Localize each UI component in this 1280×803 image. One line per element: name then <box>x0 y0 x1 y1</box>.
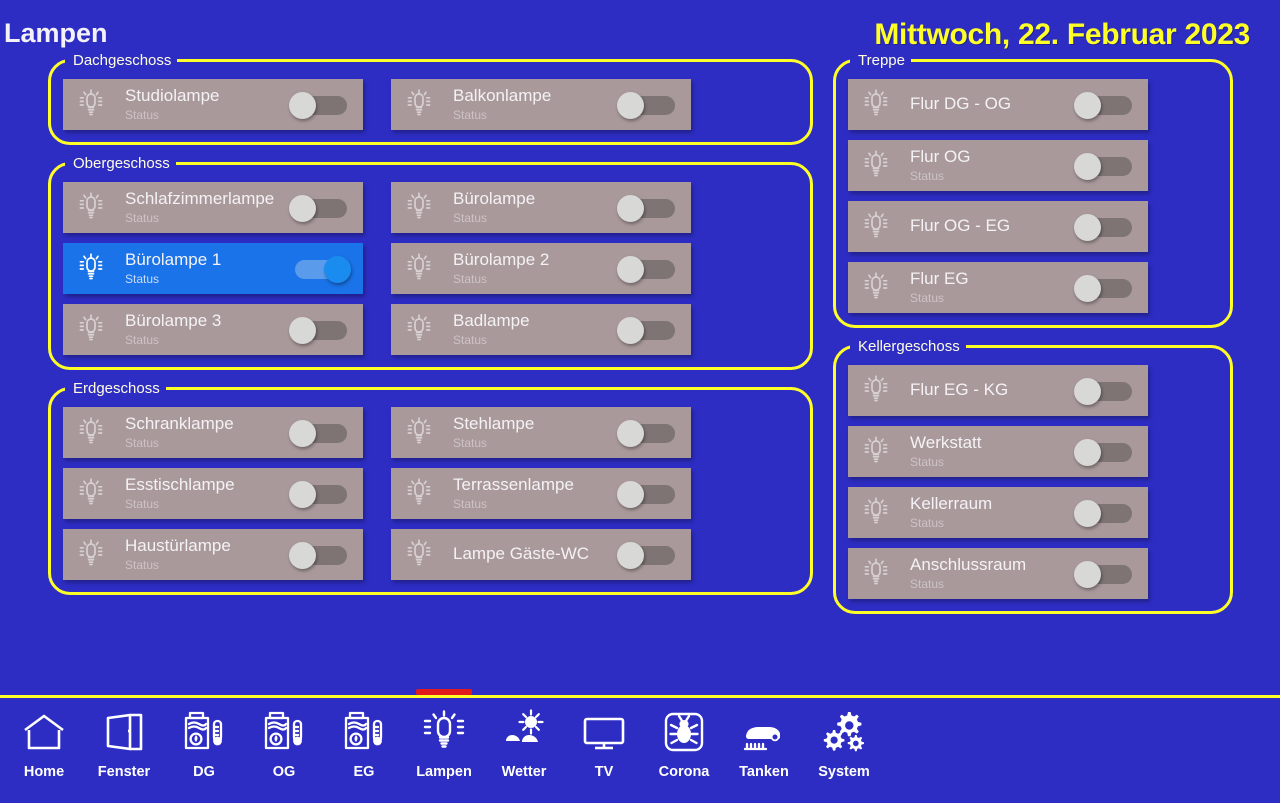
lightbulb-icon <box>405 313 433 347</box>
virus-bug-icon <box>660 708 708 756</box>
toggle-knob <box>617 317 644 344</box>
lamp-card[interactable]: Lampe Gäste-WC <box>391 529 691 580</box>
lightbulb-icon <box>862 435 890 469</box>
lamp-text: EsstischlampeStatus <box>125 475 283 511</box>
lamp-status-label: Status <box>453 436 611 451</box>
lightbulb-icon <box>405 477 433 511</box>
lightbulb-icon <box>862 557 890 591</box>
lamp-toggle-switch[interactable] <box>1074 561 1136 587</box>
lamp-status-label: Status <box>910 516 1068 531</box>
nav-item-system[interactable]: System <box>804 698 884 798</box>
lamp-toggle-switch[interactable] <box>289 92 351 118</box>
lamp-text: Bürolampe 3Status <box>125 311 283 347</box>
nav-item-label: EG <box>354 764 375 780</box>
toggle-knob <box>1074 214 1101 241</box>
toggle-knob <box>289 195 316 222</box>
nav-item-lampen[interactable]: Lampen <box>404 698 484 798</box>
nav-item-tv[interactable]: TV <box>564 698 644 798</box>
lamp-toggle-switch[interactable] <box>1074 500 1136 526</box>
toggle-knob <box>324 256 351 283</box>
lightbulb-icon <box>405 416 433 450</box>
lamp-toggle-switch[interactable] <box>617 92 679 118</box>
lamp-status-label: Status <box>125 272 283 287</box>
lamp-toggle-switch[interactable] <box>617 481 679 507</box>
lightbulb-icon <box>77 477 105 511</box>
lamp-name: Bürolampe <box>453 189 611 209</box>
lightbulb-icon <box>77 191 105 225</box>
toggle-knob <box>1074 439 1101 466</box>
lamp-card[interactable]: Flur EG - KG <box>848 365 1148 416</box>
lamp-status-label: Status <box>125 436 283 451</box>
lamp-status-label: Status <box>125 497 283 512</box>
toggle-knob <box>1074 92 1101 119</box>
lamp-text: StehlampeStatus <box>453 414 611 450</box>
lamp-text: Bürolampe 2Status <box>453 250 611 286</box>
lamp-toggle-switch[interactable] <box>289 481 351 507</box>
nav-item-label: OG <box>273 764 296 780</box>
toggle-knob <box>289 92 316 119</box>
right-column: Treppe Flur DG - OG Flur <box>833 52 1233 624</box>
lamp-status-label: Status <box>910 455 1068 470</box>
lamp-toggle-switch[interactable] <box>617 317 679 343</box>
lamp-text: Flur OGStatus <box>910 147 1068 183</box>
lamp-name: Haustürlampe <box>125 536 283 556</box>
left-column: Dachgeschoss StudiolampeStatus <box>48 52 813 605</box>
lamp-name: Anschlussraum <box>910 555 1068 575</box>
lamp-status-label: Status <box>910 291 1068 306</box>
lamp-status-label: Status <box>910 577 1068 592</box>
lamp-group-legend: Erdgeschoss <box>65 380 166 397</box>
toggle-knob <box>617 420 644 447</box>
lamp-text: BürolampeStatus <box>453 189 611 225</box>
nav-item-label: TV <box>595 764 614 780</box>
lamp-name: Werkstatt <box>910 433 1068 453</box>
lamp-card[interactable]: Flur DG - OG <box>848 79 1148 130</box>
radiator-icon <box>180 708 228 756</box>
toggle-knob <box>1074 275 1101 302</box>
lightbulb-icon <box>862 271 890 305</box>
lamp-name: Esstischlampe <box>125 475 283 495</box>
lamp-toggle-switch[interactable] <box>289 195 351 221</box>
lamp-group-legend: Kellergeschoss <box>850 338 966 355</box>
lightbulb-icon <box>77 313 105 347</box>
nav-item-tanken[interactable]: Tanken <box>724 698 804 798</box>
lamp-status-label: Status <box>453 497 611 512</box>
lamp-text: BalkonlampeStatus <box>453 86 611 122</box>
lamp-name: Bürolampe 1 <box>125 250 283 270</box>
lamp-status-label: Status <box>125 558 283 573</box>
lamp-status-label: Status <box>125 333 283 348</box>
window-icon <box>100 708 148 756</box>
lightbulb-icon <box>77 88 105 122</box>
toggle-knob <box>289 481 316 508</box>
lamp-status-label: Status <box>453 272 611 287</box>
nav-item-corona[interactable]: Corona <box>644 698 724 798</box>
nav-item-dg[interactable]: DG <box>164 698 244 798</box>
lamp-status-label: Status <box>125 211 283 226</box>
lamp-group-body: Flur DG - OG Flur OGStatus <box>848 79 1218 313</box>
lamp-text: Bürolampe 1Status <box>125 250 283 286</box>
nav-item-fenster[interactable]: Fenster <box>84 698 164 798</box>
nav-item-label: DG <box>193 764 215 780</box>
lamp-status-label: Status <box>453 333 611 348</box>
lamp-text: StudiolampeStatus <box>125 86 283 122</box>
lamp-text: HaustürlampeStatus <box>125 536 283 572</box>
nav-item-label: Corona <box>659 764 710 780</box>
lamp-name: Flur DG - OG <box>910 94 1068 114</box>
monitor-icon <box>580 708 628 756</box>
lamp-text: KellerraumStatus <box>910 494 1068 530</box>
lamp-text: Flur OG - EG <box>910 216 1068 236</box>
lamp-card[interactable]: AnschlussraumStatus <box>848 548 1148 599</box>
lamp-card[interactable]: Flur EGStatus <box>848 262 1148 313</box>
lamp-card[interactable]: WerkstattStatus <box>848 426 1148 477</box>
lamp-card[interactable]: HaustürlampeStatus <box>63 529 363 580</box>
nav-item-label: Lampen <box>416 764 472 780</box>
lamp-toggle-switch[interactable] <box>617 195 679 221</box>
lamp-text: WerkstattStatus <box>910 433 1068 469</box>
lamp-toggle-switch[interactable] <box>289 256 351 282</box>
toggle-knob <box>1074 153 1101 180</box>
nav-item-label: Tanken <box>739 764 789 780</box>
lamp-group-body: SchlafzimmerlampeStatus BürolampeStatus <box>63 182 798 355</box>
lamp-name: Balkonlampe <box>453 86 611 106</box>
page-title: Lampen <box>4 18 108 49</box>
nav-item-og[interactable]: OG <box>244 698 324 798</box>
lamp-text: Flur EG - KG <box>910 380 1068 400</box>
lamp-group-body: SchranklampeStatus StehlampeStatus <box>63 407 798 580</box>
lamp-text: SchranklampeStatus <box>125 414 283 450</box>
lamp-card[interactable]: SchlafzimmerlampeStatus <box>63 182 363 233</box>
header-date: Mittwoch, 22. Februar 2023 <box>874 18 1250 52</box>
lamp-text: SchlafzimmerlampeStatus <box>125 189 283 225</box>
sun-cloud-icon <box>500 708 548 756</box>
lamp-card[interactable]: EsstischlampeStatus <box>63 468 363 519</box>
lightbulb-icon <box>77 416 105 450</box>
lightbulb-icon <box>862 496 890 530</box>
lamp-card[interactable]: Flur OGStatus <box>848 140 1148 191</box>
lamp-card[interactable]: StehlampeStatus <box>391 407 691 458</box>
house-icon <box>20 708 68 756</box>
lamp-name: Flur OG - EG <box>910 216 1068 236</box>
toggle-knob <box>289 420 316 447</box>
lamp-toggle-switch[interactable] <box>1074 214 1136 240</box>
lamp-group: Kellergeschoss Flur EG - KG <box>833 338 1233 614</box>
toggle-knob <box>617 481 644 508</box>
lamp-toggle-switch[interactable] <box>289 317 351 343</box>
lamp-name: Badlampe <box>453 311 611 331</box>
radiator-icon <box>340 708 388 756</box>
nav-item-label: System <box>818 764 870 780</box>
lamp-card[interactable]: SchranklampeStatus <box>63 407 363 458</box>
lamp-card[interactable]: Bürolampe 3Status <box>63 304 363 355</box>
lightbulb-icon <box>862 210 890 244</box>
lamp-card[interactable]: BürolampeStatus <box>391 182 691 233</box>
nav-item-label: Home <box>24 764 64 780</box>
lamp-toggle-switch[interactable] <box>617 420 679 446</box>
lamp-toggle-switch[interactable] <box>617 256 679 282</box>
lamp-text: BadlampeStatus <box>453 311 611 347</box>
lightbulb-icon <box>77 252 105 286</box>
lamp-toggle-switch[interactable] <box>1074 275 1136 301</box>
lamp-group: Treppe Flur DG - OG Flur <box>833 52 1233 328</box>
lawnmower-icon <box>740 708 788 756</box>
lamp-name: Flur EG <box>910 269 1068 289</box>
lamp-card[interactable]: KellerraumStatus <box>848 487 1148 538</box>
active-tab-indicator <box>416 689 472 695</box>
nav-item-label: Fenster <box>98 764 150 780</box>
lightbulb-icon <box>77 538 105 572</box>
lamp-group-legend: Treppe <box>850 52 911 69</box>
lamp-name: Lampe Gäste-WC <box>453 544 611 564</box>
toggle-knob <box>617 256 644 283</box>
toggle-knob <box>617 542 644 569</box>
lamp-card[interactable]: StudiolampeStatus <box>63 79 363 130</box>
lamp-name: Bürolampe 3 <box>125 311 283 331</box>
lamp-status-label: Status <box>910 169 1068 184</box>
lamp-card[interactable]: BalkonlampeStatus <box>391 79 691 130</box>
bottom-navbar: Home Fenster DG OG <box>0 695 1280 803</box>
lamp-group: Dachgeschoss StudiolampeStatus <box>48 52 813 145</box>
gears-icon <box>820 708 868 756</box>
lamp-card[interactable]: Bürolampe 1Status <box>63 243 363 294</box>
lamp-card[interactable]: Bürolampe 2Status <box>391 243 691 294</box>
lamp-name: Schranklampe <box>125 414 283 434</box>
lightbulb-icon <box>862 149 890 183</box>
lamp-text: Flur DG - OG <box>910 94 1068 114</box>
toggle-knob <box>617 195 644 222</box>
lamp-name: Kellerraum <box>910 494 1068 514</box>
lamp-name: Stehlampe <box>453 414 611 434</box>
radiator-icon <box>260 708 308 756</box>
lamp-name: Flur EG - KG <box>910 380 1068 400</box>
lightbulb-icon <box>405 538 433 572</box>
lightbulb-icon <box>405 191 433 225</box>
lamp-group: Erdgeschoss SchranklampeStatus <box>48 380 813 595</box>
lamp-name: Flur OG <box>910 147 1068 167</box>
lamp-toggle-switch[interactable] <box>617 542 679 568</box>
lamp-card[interactable]: BadlampeStatus <box>391 304 691 355</box>
lightbulb-icon <box>405 252 433 286</box>
nav-item-label: Wetter <box>502 764 547 780</box>
lamp-toggle-switch[interactable] <box>1074 153 1136 179</box>
lamp-group: Obergeschoss SchlafzimmerlampeStatus <box>48 155 813 370</box>
lightbulb-icon <box>862 88 890 122</box>
lamp-status-label: Status <box>453 108 611 123</box>
toggle-knob <box>1074 561 1101 588</box>
lightbulb-icon <box>405 88 433 122</box>
lamp-card[interactable]: Flur OG - EG <box>848 201 1148 252</box>
lamp-text: Lampe Gäste-WC <box>453 544 611 564</box>
lamp-name: Studiolampe <box>125 86 283 106</box>
lamp-card[interactable]: TerrassenlampeStatus <box>391 468 691 519</box>
lamp-toggle-switch[interactable] <box>1074 92 1136 118</box>
lamp-group-legend: Obergeschoss <box>65 155 176 172</box>
lamp-text: Flur EGStatus <box>910 269 1068 305</box>
toggle-knob <box>1074 500 1101 527</box>
lamp-text: AnschlussraumStatus <box>910 555 1068 591</box>
toggle-knob <box>1074 378 1101 405</box>
lamp-name: Terrassenlampe <box>453 475 611 495</box>
nav-item-wetter[interactable]: Wetter <box>484 698 564 798</box>
lamp-group-legend: Dachgeschoss <box>65 52 177 69</box>
lamp-toggle-switch[interactable] <box>289 542 351 568</box>
lightbulb-icon <box>862 374 890 408</box>
nav-item-eg[interactable]: EG <box>324 698 404 798</box>
lamp-group-body: Flur EG - KG WerkstattStatus <box>848 365 1218 599</box>
lamp-toggle-switch[interactable] <box>1074 378 1136 404</box>
toggle-knob <box>289 317 316 344</box>
lamp-status-label: Status <box>125 108 283 123</box>
lamp-name: Bürolampe 2 <box>453 250 611 270</box>
nav-item-home[interactable]: Home <box>4 698 84 798</box>
lamp-toggle-switch[interactable] <box>1074 439 1136 465</box>
lamp-toggle-switch[interactable] <box>289 420 351 446</box>
toggle-knob <box>289 542 316 569</box>
lightbulb-icon <box>420 708 468 756</box>
lamp-status-label: Status <box>453 211 611 226</box>
lamp-text: TerrassenlampeStatus <box>453 475 611 511</box>
lamp-group-body: StudiolampeStatus BalkonlampeStatus <box>63 79 798 130</box>
toggle-knob <box>617 92 644 119</box>
lamp-name: Schlafzimmerlampe <box>125 189 283 209</box>
